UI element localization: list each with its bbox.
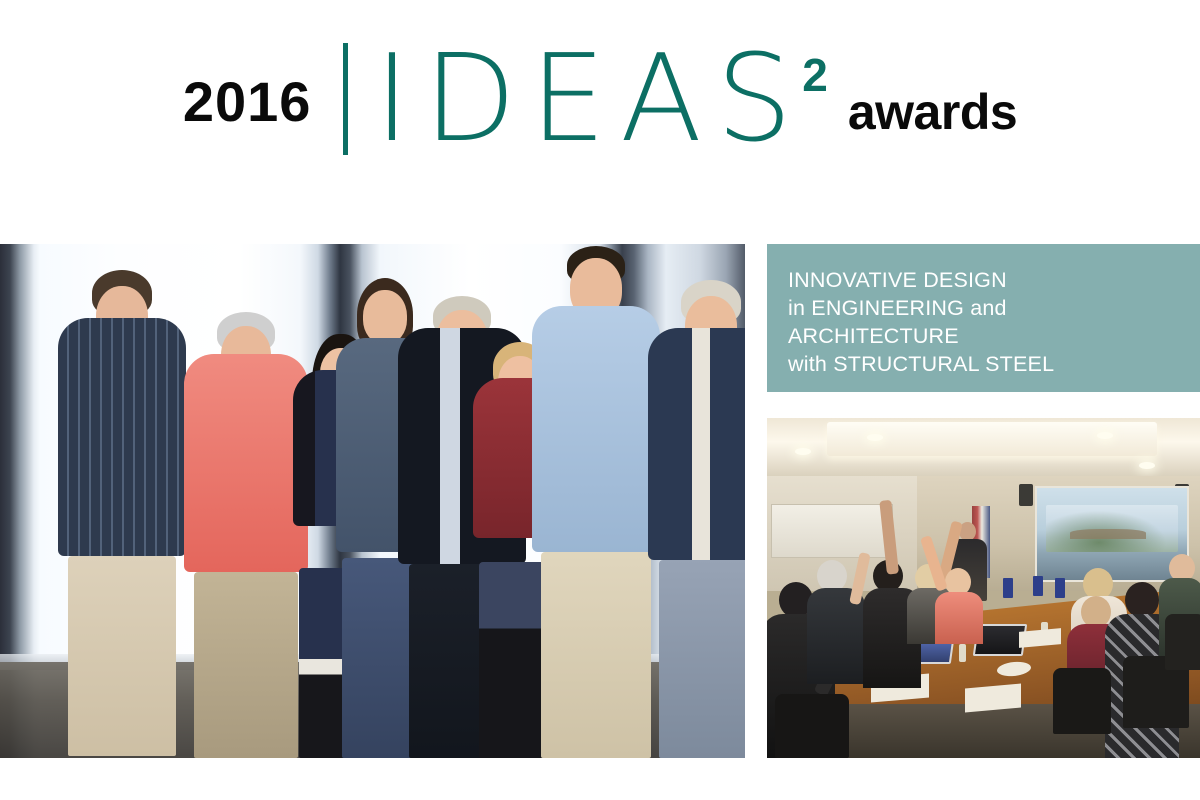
- logo-divider-bar: [343, 43, 348, 155]
- ceiling-downlight: [867, 434, 883, 441]
- office-chair: [1165, 614, 1200, 670]
- logo-superscript-two: 2: [802, 48, 828, 102]
- legs: [541, 552, 651, 758]
- person-man-navy-blazer: [640, 284, 745, 702]
- projected-image: [1046, 505, 1178, 553]
- logo-lockup: 2016 IDEAS 2 awards: [0, 34, 1200, 164]
- tagline-text: INNOVATIVE DESIGN in ENGINEERING and ARC…: [788, 266, 1188, 378]
- header: 2016 IDEAS 2 awards: [0, 0, 1200, 244]
- legs: [194, 572, 298, 758]
- conference-photo: [767, 418, 1200, 758]
- whiteboard: [771, 504, 893, 558]
- ceiling-downlight: [1097, 432, 1113, 439]
- office-chair: [775, 694, 849, 758]
- water-bottle: [959, 644, 966, 662]
- tagline-banner: INNOVATIVE DESIGN in ENGINEERING and ARC…: [767, 244, 1200, 392]
- office-chair: [1053, 668, 1111, 734]
- tagline-line-2: in ENGINEERING and: [788, 294, 1188, 322]
- torso: [58, 318, 186, 556]
- torso: [935, 592, 983, 644]
- attendee: [807, 560, 865, 680]
- drink-cup: [1003, 578, 1013, 598]
- logo-year: 2016: [183, 74, 312, 130]
- ceiling-downlight: [795, 448, 811, 455]
- wall-speaker: [1019, 484, 1033, 506]
- group-photo: [0, 244, 745, 758]
- bridge-rendering: [1070, 529, 1147, 539]
- tagline-line-3: ARCHITECTURE: [788, 322, 1188, 350]
- ceiling-downlight: [1139, 462, 1155, 469]
- tagline-line-1: INNOVATIVE DESIGN: [788, 266, 1188, 294]
- legs: [659, 560, 745, 758]
- drink-cup: [1055, 578, 1065, 598]
- attendee: [935, 568, 983, 642]
- paper-document: [965, 684, 1021, 713]
- logo-wordmark: IDEAS: [374, 40, 806, 160]
- logo-awards-label: awards: [848, 83, 1017, 141]
- head: [1125, 582, 1159, 618]
- legs: [68, 556, 176, 756]
- drink-cup: [1033, 576, 1043, 596]
- tagline-line-4: with STRUCTURAL STEEL: [788, 350, 1188, 378]
- torso: [648, 328, 745, 560]
- person-man-plaid-shirt: [48, 272, 196, 702]
